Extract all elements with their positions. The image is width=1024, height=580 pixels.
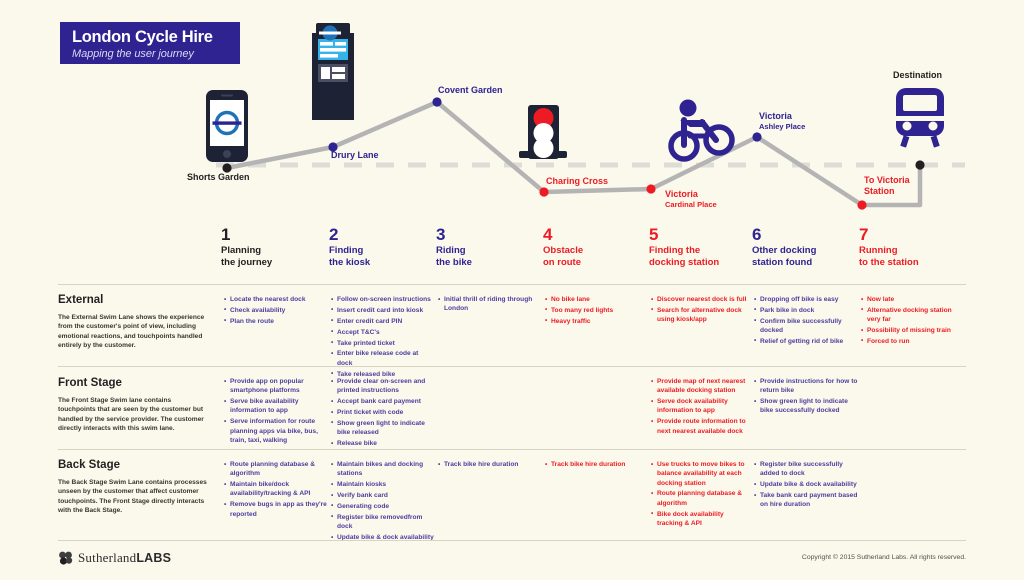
cell-back-6: Register bike successfully added to dock… xyxy=(754,460,858,511)
list-item: Search for alternative dock using kiosk/… xyxy=(651,306,751,325)
list-item: Bike dock availability tracking & API xyxy=(651,510,751,529)
list-external-5: Discover nearest dock is fullSearch for … xyxy=(651,295,751,324)
cell-external-7: Now lateAlternative docking station very… xyxy=(861,295,966,348)
list-back-3: Track bike hire duration xyxy=(438,460,538,469)
cell-back-1: Route planning database & algorithmMaint… xyxy=(224,460,328,521)
list-external-6: Dropping off bike is easyPark bike in do… xyxy=(754,295,858,346)
stage-6-number: 6 xyxy=(752,225,816,245)
infographic-page: London Cycle Hire Mapping the user journ… xyxy=(0,0,1024,580)
list-external-4: No bike laneToo many red lightsHeavy tra… xyxy=(545,295,643,326)
list-item: Follow on-screen instructions xyxy=(331,295,435,304)
list-item: Provide clear on-screen and printed inst… xyxy=(331,377,435,396)
lane-external-heading: External xyxy=(58,293,210,307)
list-item: Route planning database & algorithm xyxy=(651,489,751,508)
list-item: Forced to run xyxy=(861,337,966,346)
stage-7-label-line1: Running xyxy=(859,245,919,257)
stage-7-label-line2: to the station xyxy=(859,257,919,269)
stage-5-label-line1: Finding the xyxy=(649,245,719,257)
list-item: Provide route information to next neares… xyxy=(651,417,751,436)
list-item: Plan the route xyxy=(224,317,328,326)
stage-4-label-line1: Obstacle xyxy=(543,245,583,257)
lane-front-stage-description: The Front Stage Swim lane contains touch… xyxy=(58,396,210,434)
list-item: Relief of getting rid of bike xyxy=(754,337,858,346)
list-item: Register bike successfully added to dock xyxy=(754,460,858,479)
lane-external-description: The External Swim Lane shows the experie… xyxy=(58,313,210,351)
map-label-shorts-garden: Shorts Garden xyxy=(187,172,250,183)
list-back-6: Register bike successfully added to dock… xyxy=(754,460,858,510)
map-label-victoria-ashley-place: Victoria Ashley Place xyxy=(759,111,805,132)
cell-back-2: Maintain bikes and docking stationsMaint… xyxy=(331,460,435,544)
list-front-5: Provide map of next nearest available do… xyxy=(651,377,751,436)
map-node-victoria-cardinal-place[interactable] xyxy=(646,184,655,193)
list-item: Accept T&C's xyxy=(331,328,435,337)
traffic-light-icon xyxy=(519,105,567,159)
lane-front-stage-heading: Front Stage xyxy=(58,376,210,390)
list-item: Track bike hire duration xyxy=(545,460,643,469)
cell-front-2: Provide clear on-screen and printed inst… xyxy=(331,377,435,450)
stage-1-number: 1 xyxy=(221,225,272,245)
lane-back-stage-description: The Back Stage Swim Lane contains proces… xyxy=(58,478,210,516)
list-item: Enter bike release code at dock xyxy=(331,349,435,368)
list-item: Confirm bike successfully docked xyxy=(754,317,858,336)
list-item: Alternative docking station very far xyxy=(861,306,966,325)
list-item: Use trucks to move bikes to balance avai… xyxy=(651,460,751,488)
list-item: Print ticket with code xyxy=(331,408,435,417)
list-item: Serve information for route planning app… xyxy=(224,417,328,445)
list-item: Take bank card payment based on hire dur… xyxy=(754,491,858,510)
list-item: Locate the nearest dock xyxy=(224,295,328,304)
list-item: Route planning database & algorithm xyxy=(224,460,328,479)
list-item: Too many red lights xyxy=(545,306,643,315)
stage-4-number: 4 xyxy=(543,225,583,245)
cell-external-4: No bike laneToo many red lightsHeavy tra… xyxy=(545,295,643,328)
divider-above-back-stage xyxy=(58,449,966,450)
stage-7-number: 7 xyxy=(859,225,919,245)
list-external-3: Initial thrill of riding through London xyxy=(438,295,538,314)
list-item: Show green light to indicate bike releas… xyxy=(331,419,435,438)
list-external-1: Locate the nearest dockCheck availabilit… xyxy=(224,295,328,326)
stage-3-label-line1: Riding xyxy=(436,245,472,257)
list-back-2: Maintain bikes and docking stationsMaint… xyxy=(331,460,435,542)
map-label-drury-lane: Drury Lane xyxy=(331,150,379,161)
logo-serif-part: Sutherland xyxy=(78,550,136,565)
list-item: Enter credit card PIN xyxy=(331,317,435,326)
list-item: Take printed ticket xyxy=(331,339,435,348)
cell-external-3: Initial thrill of riding through London xyxy=(438,295,538,315)
sutherland-labs-logo: SutherlandLABS xyxy=(58,550,171,566)
list-front-2: Provide clear on-screen and printed inst… xyxy=(331,377,435,448)
train-icon xyxy=(896,88,944,148)
stage-6[interactable]: 6 Other docking station found xyxy=(752,225,816,268)
stage-2-label-line1: Finding xyxy=(329,245,370,257)
cell-front-6: Provide instructions for how to return b… xyxy=(754,377,858,417)
stage-6-label-line1: Other docking xyxy=(752,245,816,257)
stage-5[interactable]: 5 Finding the docking station xyxy=(649,225,719,268)
list-item: Remove bugs in app as they're reported xyxy=(224,500,328,519)
stage-2[interactable]: 2 Finding the kiosk xyxy=(329,225,370,268)
list-item: Maintain kiosks xyxy=(331,480,435,489)
map-node-to-victoria-station[interactable] xyxy=(857,200,866,209)
cell-external-6: Dropping off bike is easyPark bike in do… xyxy=(754,295,858,348)
list-item: Verify bank card xyxy=(331,491,435,500)
stage-1[interactable]: 1 Planning the journey xyxy=(221,225,272,268)
list-item: Update bike & dock availability xyxy=(754,480,858,489)
cell-back-3: Track bike hire duration xyxy=(438,460,538,471)
divider-above-front-stage xyxy=(58,366,966,367)
stage-header-row: 1 Planning the journey 2 Finding the kio… xyxy=(0,225,1024,285)
cell-front-5: Provide map of next nearest available do… xyxy=(651,377,751,438)
cell-external-5: Discover nearest dock is fullSearch for … xyxy=(651,295,751,326)
list-item: Track bike hire duration xyxy=(438,460,538,469)
list-item: Park bike in dock xyxy=(754,306,858,315)
stage-6-label-line2: station found xyxy=(752,257,816,269)
list-item: Register bike removedfrom dock xyxy=(331,513,435,532)
map-node-victoria-ashley-place[interactable] xyxy=(752,132,761,141)
stage-7[interactable]: 7 Running to the station xyxy=(859,225,919,268)
footer-divider xyxy=(58,540,966,541)
stage-3[interactable]: 3 Riding the bike xyxy=(436,225,472,268)
list-item: Provide map of next nearest available do… xyxy=(651,377,751,396)
list-item: Dropping off bike is easy xyxy=(754,295,858,304)
stage-1-label-line1: Planning xyxy=(221,245,272,257)
stage-1-label-line2: the journey xyxy=(221,257,272,269)
list-item: Release bike xyxy=(331,439,435,448)
list-item: Initial thrill of riding through London xyxy=(438,295,538,314)
stage-3-label-line2: the bike xyxy=(436,257,472,269)
lane-title-back-stage: Back Stage The Back Stage Swim Lane cont… xyxy=(58,458,210,516)
journey-map: Shorts Garden Drury Lane Covent Garden C… xyxy=(0,0,1024,215)
list-item: Insert credit card into kiosk xyxy=(331,306,435,315)
list-item: Generating code xyxy=(331,502,435,511)
stage-3-number: 3 xyxy=(436,225,472,245)
list-back-5: Use trucks to move bikes to balance avai… xyxy=(651,460,751,528)
list-external-7: Now lateAlternative docking station very… xyxy=(861,295,966,346)
map-node-covent-garden[interactable] xyxy=(432,97,441,106)
map-label-victoria-cardinal-place: Victoria Cardinal Place xyxy=(665,189,717,210)
divider-above-external xyxy=(58,284,966,285)
stage-2-number: 2 xyxy=(329,225,370,245)
list-back-1: Route planning database & algorithmMaint… xyxy=(224,460,328,519)
lane-title-front-stage: Front Stage The Front Stage Swim lane co… xyxy=(58,376,210,434)
kiosk-icon xyxy=(312,23,354,120)
stage-4[interactable]: 4 Obstacle on route xyxy=(543,225,583,268)
list-item: Maintain bikes and docking stations xyxy=(331,460,435,479)
map-node-destination[interactable] xyxy=(915,160,924,169)
list-item: Possibility of missing train xyxy=(861,326,966,335)
list-item: Accept bank card payment xyxy=(331,397,435,406)
list-item: Show green light to indicate bike succes… xyxy=(754,397,858,416)
list-item: Provide instructions for how to return b… xyxy=(754,377,858,396)
list-front-1: Provide app on popular smartphone platfo… xyxy=(224,377,328,445)
map-label-destination: Destination xyxy=(893,70,942,81)
map-label-to-victoria-station: To Victoria Station xyxy=(864,175,910,197)
cyclist-icon xyxy=(671,100,732,160)
list-item: Serve dock availability information to a… xyxy=(651,397,751,416)
list-item: Now late xyxy=(861,295,966,304)
list-front-6: Provide instructions for how to return b… xyxy=(754,377,858,416)
logo-wordmark: SutherlandLABS xyxy=(78,550,171,566)
copyright-text: Copyright © 2015 Sutherland Labs. All ri… xyxy=(802,554,966,561)
list-item: Discover nearest dock is full xyxy=(651,295,751,304)
list-item: Provide app on popular smartphone platfo… xyxy=(224,377,328,396)
list-item: Check availability xyxy=(224,306,328,315)
cell-external-2: Follow on-screen instructionsInsert cred… xyxy=(331,295,435,381)
list-item: Serve bike availability information to a… xyxy=(224,397,328,416)
smartphone-icon xyxy=(206,90,248,162)
list-back-4: Track bike hire duration xyxy=(545,460,643,469)
list-item: No bike lane xyxy=(545,295,643,304)
list-item: Maintain bike/dock availability/tracking… xyxy=(224,480,328,499)
lane-back-stage-heading: Back Stage xyxy=(58,458,210,472)
logo-bold-part: LABS xyxy=(136,551,171,565)
stage-5-number: 5 xyxy=(649,225,719,245)
lane-title-external: External The External Swim Lane shows th… xyxy=(58,293,210,351)
cell-external-1: Locate the nearest dockCheck availabilit… xyxy=(224,295,328,328)
cell-back-4: Track bike hire duration xyxy=(545,460,643,471)
stage-4-label-line2: on route xyxy=(543,257,583,269)
stage-5-label-line2: docking station xyxy=(649,257,719,269)
cell-back-5: Use trucks to move bikes to balance avai… xyxy=(651,460,751,530)
list-external-2: Follow on-screen instructionsInsert cred… xyxy=(331,295,435,379)
cell-front-1: Provide app on popular smartphone platfo… xyxy=(224,377,328,447)
list-item: Heavy traffic xyxy=(545,317,643,326)
stage-2-label-line2: the kiosk xyxy=(329,257,370,269)
map-label-covent-garden: Covent Garden xyxy=(438,85,503,96)
map-node-charing-cross[interactable] xyxy=(539,187,548,196)
clover-icon xyxy=(58,551,74,565)
map-label-charing-cross: Charing Cross xyxy=(546,176,608,187)
